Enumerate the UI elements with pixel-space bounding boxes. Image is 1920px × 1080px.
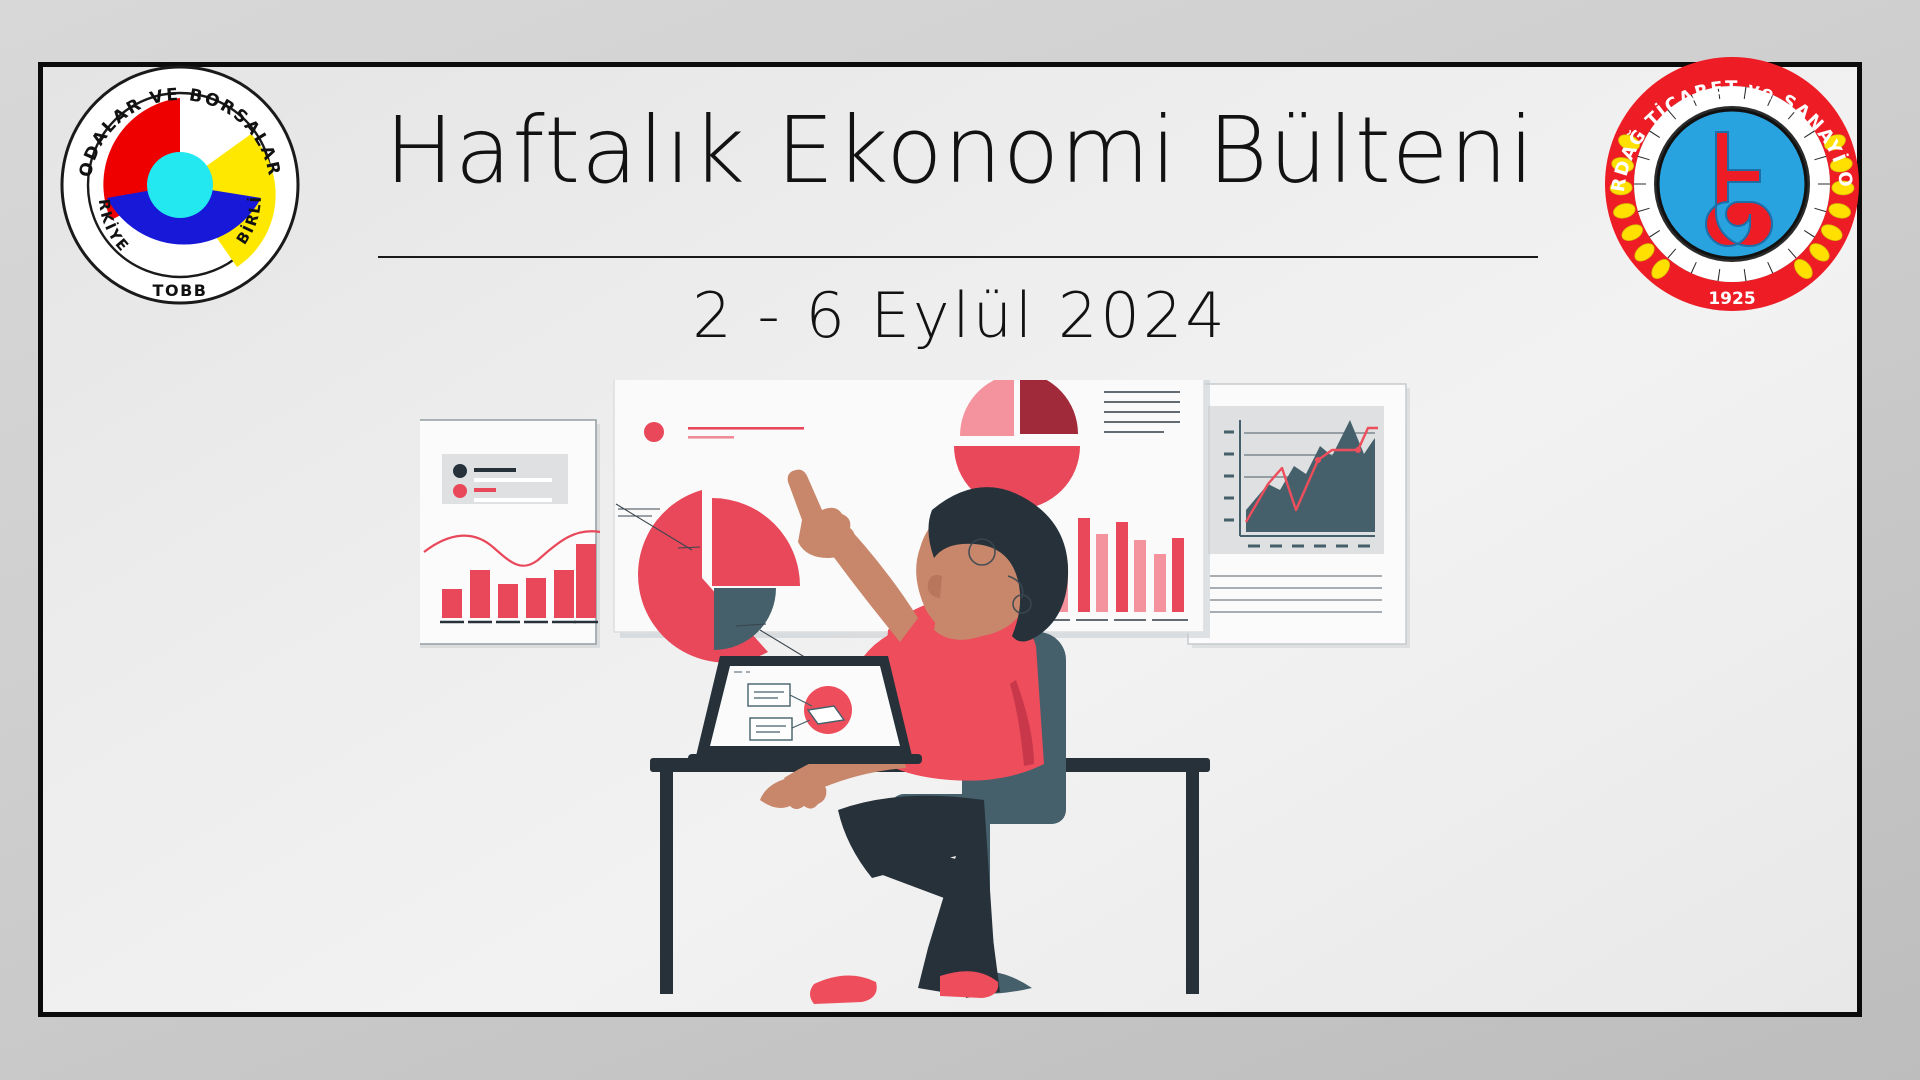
date-range-label: 2 - 6 Eylül 2024: [380, 285, 1540, 347]
page-title: Haftalık Ekonomi Bülteni: [380, 105, 1540, 197]
tekirdag-tso-logo: TEKİRDAĞ TİCARET ve SANAYİ ODASI 1925 TE…: [1600, 52, 1865, 317]
laptop: [688, 656, 922, 764]
tobb-logo: ODALAR VE BORSALAR TÜRKİYE ‎ ‎ ‎ ‎ ‎ ‎ ‎…: [55, 60, 305, 310]
header-divider: [378, 256, 1538, 258]
svg-text:1925: 1925: [1708, 289, 1755, 309]
right-report-card: [1188, 384, 1410, 648]
business-analytics-illustration: [420, 380, 1480, 1020]
svg-text:TOBB: TOBB: [153, 281, 208, 300]
poster-root: ODALAR VE BORSALAR TÜRKİYE ‎ ‎ ‎ ‎ ‎ ‎ ‎…: [0, 0, 1920, 1080]
left-chart-card: [420, 420, 600, 648]
